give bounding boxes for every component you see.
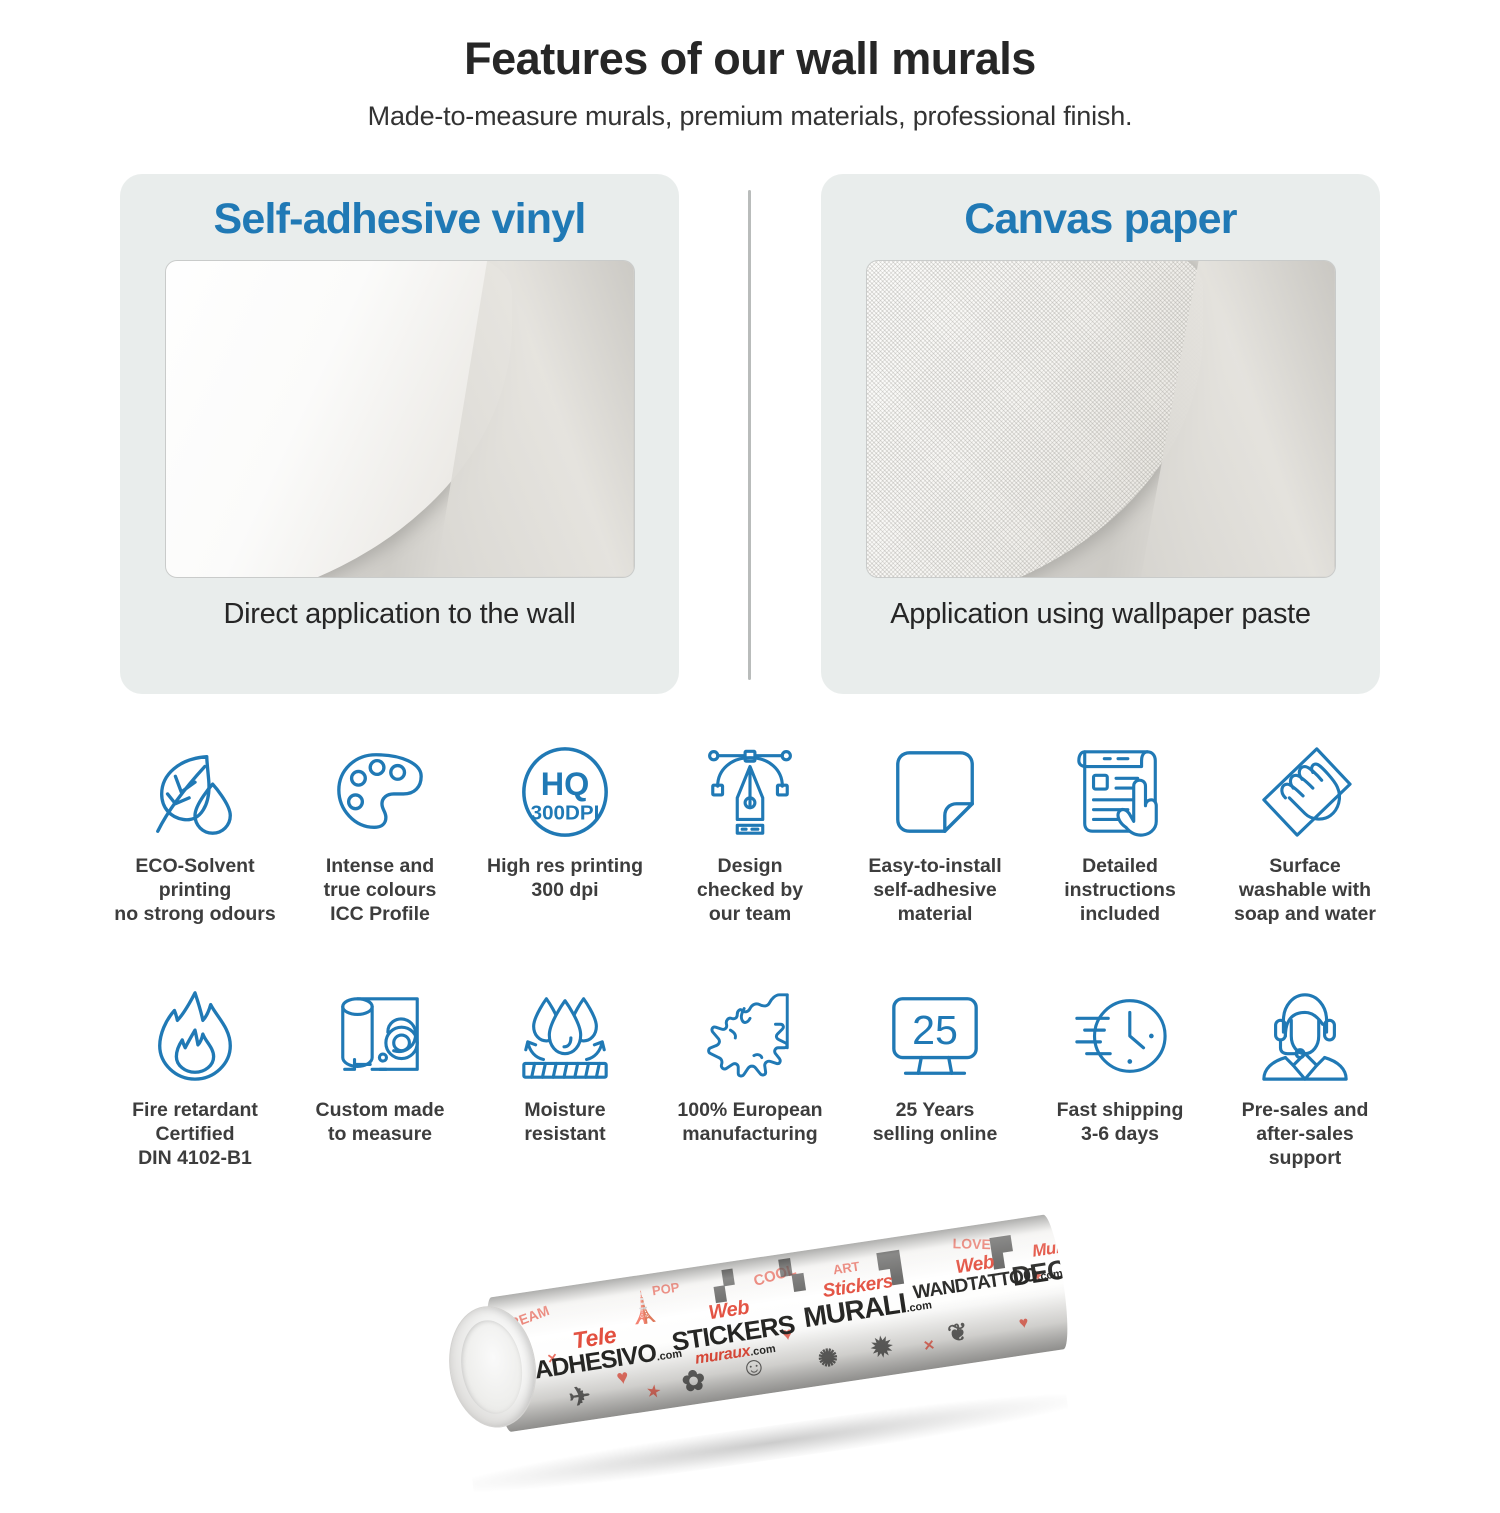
tube-artwork: DREAM ✈ ✕ ♥ 🗼 ★ ✿ POP ▞ COOL ☺ ▚ ♥ ✺ ART… <box>481 1213 1073 1433</box>
tube-brand-2: Web STICKERS muraux.com <box>667 1291 797 1370</box>
feature-support: Pre-sales and after-sales support <box>1220 984 1390 1171</box>
feature-easy-install: Easy-to-install self-adhesive material <box>850 740 1020 927</box>
feature-label: 25 Years selling online <box>873 1098 998 1146</box>
feature-25-years: 25 25 Years selling online <box>850 984 1020 1146</box>
feature-european-manufacturing: 100% European manufacturing <box>665 984 835 1146</box>
material-photo-canvas <box>866 260 1336 578</box>
feature-fast-shipping: Fast shipping 3-6 days <box>1035 984 1205 1146</box>
feature-label: ECO-Solvent printing no strong odours <box>114 854 275 927</box>
paint-palette-icon <box>328 740 432 844</box>
feature-true-colours: Intense and true colours ICC Profile <box>295 740 465 927</box>
printed-mailing-tube: DREAM ✈ ✕ ♥ 🗼 ★ ✿ POP ▞ COOL ☺ ▚ ♥ ✺ ART… <box>440 1213 1084 1512</box>
europe-map-icon <box>698 984 802 1088</box>
feature-label: 100% European manufacturing <box>677 1098 822 1146</box>
material-caption-vinyl: Direct application to the wall <box>223 596 575 633</box>
monitor-badge-value: 25 <box>912 1007 958 1053</box>
pen-nib-bezier-icon <box>698 740 802 844</box>
hand-wiping-cloth-icon <box>1253 740 1357 844</box>
page-title: Features of our wall murals <box>0 34 1500 84</box>
water-repellent-icon <box>513 984 617 1088</box>
material-title-canvas: Canvas paper <box>964 196 1236 243</box>
feature-custom-made: Custom made to measure <box>295 984 465 1146</box>
hq-badge-top: HQ <box>541 765 590 801</box>
feature-high-res: HQ 300DPI High res printing 300 dpi <box>480 740 650 902</box>
feature-washable: Surface washable with soap and water <box>1220 740 1390 927</box>
headset-agent-icon <box>1253 984 1357 1088</box>
feature-label: Fast shipping 3-6 days <box>1057 1098 1184 1146</box>
material-card-vinyl[interactable]: Self-adhesive vinyl Direct application t… <box>120 174 679 694</box>
tube-brand-5: Murals DECAL.com <box>1007 1232 1073 1291</box>
hq-300dpi-badge-icon: HQ 300DPI <box>513 740 617 844</box>
feature-row-1: ECO-Solvent printing no strong odours In… <box>110 740 1390 927</box>
material-photo-vinyl <box>165 260 635 578</box>
document-hand-icon <box>1068 740 1172 844</box>
flame-icon <box>143 984 247 1088</box>
material-title-vinyl: Self-adhesive vinyl <box>214 196 586 243</box>
feature-label: Moisture resistant <box>524 1098 605 1146</box>
features-section: ECO-Solvent printing no strong odours In… <box>0 740 1500 1171</box>
tube-brand-1: Tele ADHESIVO.com <box>529 1317 663 1383</box>
feature-label: Custom made to measure <box>316 1098 445 1146</box>
feature-label: Surface washable with soap and water <box>1234 854 1376 927</box>
feature-label: Fire retardant Certified DIN 4102-B1 <box>132 1098 258 1171</box>
feature-fire-retardant: Fire retardant Certified DIN 4102-B1 <box>110 984 280 1171</box>
tube-body: DREAM ✈ ✕ ♥ 🗼 ★ ✿ POP ▞ COOL ☺ ▚ ♥ ✺ ART… <box>481 1213 1073 1433</box>
feature-label: Pre-sales and after-sales support <box>1242 1098 1369 1171</box>
peeling-sticker-icon <box>883 740 987 844</box>
materials-section: Self-adhesive vinyl Direct application t… <box>0 174 1500 694</box>
material-card-canvas[interactable]: Canvas paper Application using wallpaper… <box>821 174 1380 694</box>
fast-clock-icon <box>1068 984 1172 1088</box>
feature-label: Easy-to-install self-adhesive material <box>868 854 1001 927</box>
feature-eco-solvent: ECO-Solvent printing no strong odours <box>110 740 280 927</box>
feature-moisture-resistant: Moisture resistant <box>480 984 650 1146</box>
feature-label: Detailed instructions included <box>1064 854 1176 927</box>
feature-design-checked: Design checked by our team <box>665 740 835 927</box>
product-tube-section: DREAM ✈ ✕ ♥ 🗼 ★ ✿ POP ▞ COOL ☺ ▚ ♥ ✺ ART… <box>0 1248 1500 1500</box>
feature-label: Design checked by our team <box>697 854 803 927</box>
page-header: Features of our wall murals Made-to-meas… <box>0 0 1500 132</box>
roll-tape-measure-icon <box>328 984 432 1088</box>
hq-badge-bottom: 300DPI <box>531 801 600 824</box>
monitor-25-icon: 25 <box>883 984 987 1088</box>
tube-brand-3: Stickers MURALI.com <box>799 1269 921 1333</box>
feature-label: Intense and true colours ICC Profile <box>324 854 437 927</box>
leaf-droplet-icon <box>143 740 247 844</box>
feature-row-2: Fire retardant Certified DIN 4102-B1 Cus… <box>110 984 1390 1171</box>
feature-label: High res printing 300 dpi <box>487 854 643 902</box>
feature-instructions: Detailed instructions included <box>1035 740 1205 927</box>
material-caption-canvas: Application using wallpaper paste <box>890 596 1311 633</box>
panel-divider <box>748 190 751 680</box>
page-subtitle: Made-to-measure murals, premium material… <box>0 101 1500 132</box>
